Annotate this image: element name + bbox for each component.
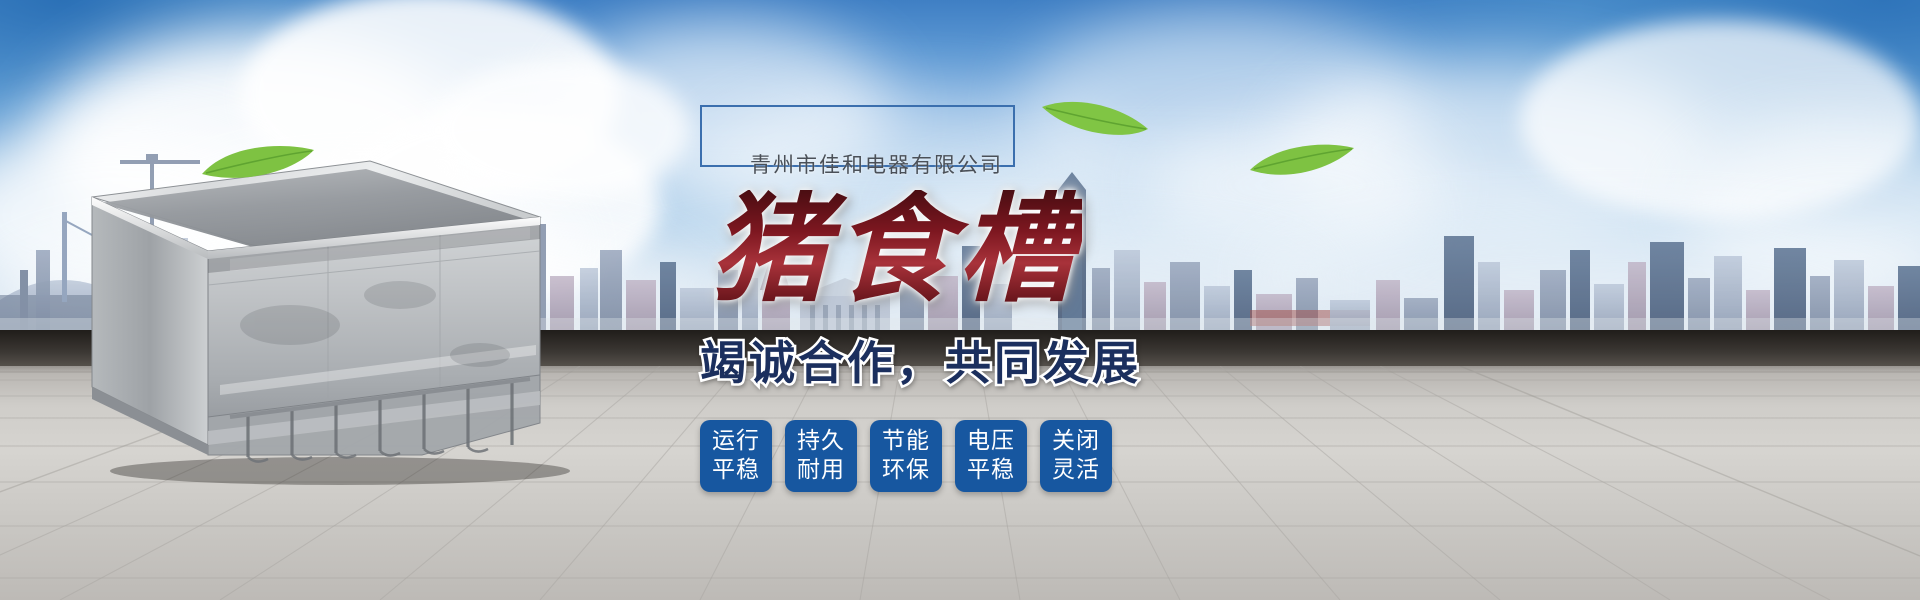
promotional-banner: 青州市佳和电器有限公司 猪食槽 竭诚合作，共同发展 运行 平稳 持久 耐用 节能… (0, 0, 1920, 600)
feature-badge-list: 运行 平稳 持久 耐用 节能 环保 电压 平稳 关闭 灵活 (700, 420, 1112, 492)
feature-badge[interactable]: 关闭 灵活 (1040, 420, 1112, 492)
leaf-decoration-left (198, 140, 318, 190)
company-name: 青州市佳和电器有限公司 (750, 149, 1003, 179)
feature-badge-line2: 平稳 (712, 456, 760, 485)
feature-badge-line1: 持久 (797, 427, 845, 456)
feature-badge[interactable]: 持久 耐用 (785, 420, 857, 492)
feature-badge-line2: 环保 (882, 456, 930, 485)
feature-badge-line1: 节能 (882, 427, 930, 456)
feature-badge[interactable]: 运行 平稳 (700, 420, 772, 492)
feature-badge[interactable]: 节能 环保 (870, 420, 942, 492)
feature-badge-line2: 灵活 (1052, 456, 1100, 485)
feature-badge-line2: 平稳 (967, 456, 1015, 485)
page-title: 猪食槽 (710, 190, 1082, 308)
feature-badge[interactable]: 电压 平稳 (955, 420, 1027, 492)
product-image-pig-feeding-trough (70, 155, 590, 485)
feature-badge-line1: 电压 (967, 427, 1015, 456)
feature-badge-line1: 运行 (712, 427, 760, 456)
feature-badge-line1: 关闭 (1052, 427, 1100, 456)
leaf-decoration-right (1248, 140, 1356, 188)
copy-block: 青州市佳和电器有限公司 猪食槽 竭诚合作，共同发展 运行 平稳 持久 耐用 节能… (690, 95, 1250, 555)
feature-badge-line2: 耐用 (797, 456, 845, 485)
page-subtitle: 竭诚合作，共同发展 (700, 340, 1141, 386)
